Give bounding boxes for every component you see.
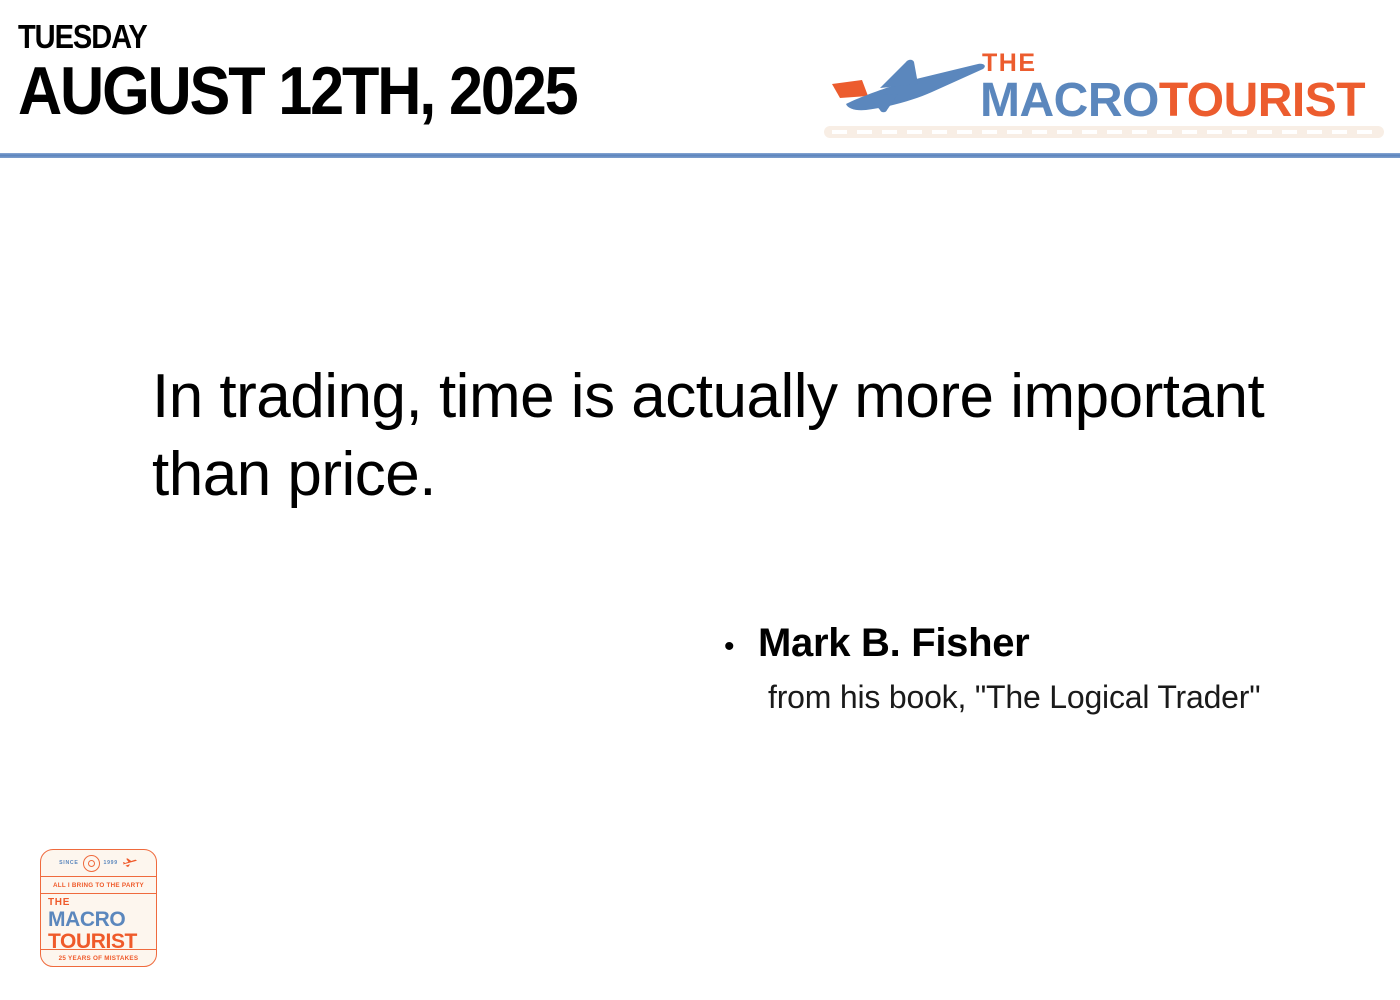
weekday-label: TUESDAY xyxy=(18,20,564,54)
logo-main-label: MACROTOURIST xyxy=(980,76,1384,126)
logo-tourist-label: TOURIST xyxy=(1159,74,1365,127)
page-header: TUESDAY AUGUST 12TH, 2025 THE MACROTOURI… xyxy=(0,0,1400,156)
attribution-source: from his book, "The Logical Trader" xyxy=(768,678,1364,716)
stamp-since-label: SINCE xyxy=(59,860,78,866)
logo-wordmark: THE MACROTOURIST xyxy=(980,50,1384,126)
logo-macro-label: MACRO xyxy=(980,74,1159,127)
quote-attribution: • Mark B. Fisher from his book, "The Log… xyxy=(724,620,1364,716)
airplane-icon xyxy=(828,52,988,118)
logo-the-label: THE xyxy=(980,50,1384,76)
stamp-footer-label: 25 YEARS OF MISTAKES xyxy=(41,950,156,966)
stamp-airplane-icon xyxy=(122,857,138,869)
stamp-since-year: 1999 xyxy=(104,860,118,866)
stamp-tourist-label: TOURIST xyxy=(48,931,149,952)
bullet-icon: • xyxy=(724,624,758,670)
target-icon xyxy=(83,855,100,872)
macro-tourist-stamp-badge[interactable]: SINCE 1999 ALL I BRING TO THE PARTY THE … xyxy=(40,849,157,967)
stamp-tagline: ALL I BRING TO THE PARTY xyxy=(41,877,156,894)
attribution-author: Mark B. Fisher xyxy=(758,620,1029,666)
runway-dashes xyxy=(832,130,1376,134)
quote-text: In trading, time is actually more import… xyxy=(152,358,1342,514)
target-icon-inner xyxy=(88,860,95,867)
stamp-macro-label: MACRO xyxy=(48,909,149,930)
date-heading: TUESDAY AUGUST 12TH, 2025 xyxy=(18,20,639,126)
stamp-wordmark: THE MACRO TOURIST xyxy=(41,894,156,950)
full-date-label: AUGUST 12TH, 2025 xyxy=(18,56,576,126)
attribution-name-row: • Mark B. Fisher xyxy=(724,620,1364,670)
header-divider xyxy=(0,153,1400,158)
stamp-top-row: SINCE 1999 xyxy=(41,850,156,877)
stamp-the-label: THE xyxy=(48,897,149,908)
brand-logo[interactable]: THE MACROTOURIST xyxy=(824,50,1384,145)
runway-stripe xyxy=(824,126,1384,138)
